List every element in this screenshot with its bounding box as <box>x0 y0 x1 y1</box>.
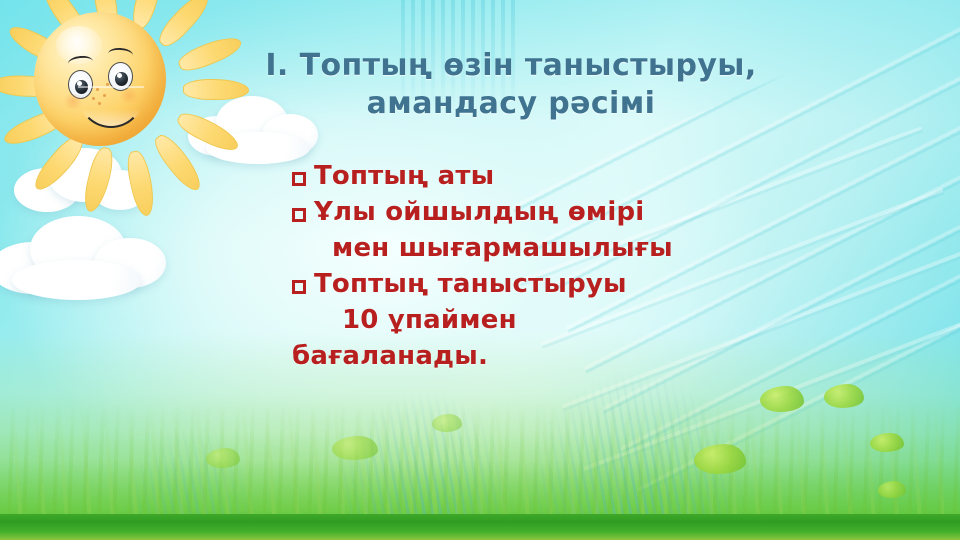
leaf-icon <box>432 414 462 432</box>
leaf-icon <box>870 433 904 452</box>
bullet-list: Топтың аты Ұлы ойшылдың өмірі мен шығарм… <box>292 158 892 374</box>
bullet-square-icon <box>292 266 314 302</box>
list-item: Топтың таныстыруы <box>292 266 892 302</box>
list-item: Ұлы ойшылдың өмірі <box>292 194 892 230</box>
slide-canvas: I. Топтың өзін таныстыруы, амандасу рәсі… <box>0 0 960 540</box>
list-item-label: Топтың аты <box>314 158 892 194</box>
leaf-icon <box>760 386 804 412</box>
leaf-icon <box>824 384 864 408</box>
leaf-icon <box>878 481 906 498</box>
list-item-label: Топтың таныстыруы <box>314 266 892 302</box>
leaf-icon <box>694 444 746 474</box>
sun-face-icon <box>34 12 166 146</box>
title-line-2: амандасу рәсімі <box>212 85 810 123</box>
list-item-continuation: мен шығармашылығы <box>292 230 892 266</box>
smile-icon <box>78 86 144 128</box>
slide-title: I. Топтың өзін таныстыруы, амандасу рәсі… <box>212 47 810 123</box>
title-line-1: I. Топтың өзін таныстыруы, <box>265 48 756 83</box>
list-item-label: Ұлы ойшылдың өмірі <box>314 194 892 230</box>
bullet-square-icon <box>292 158 314 194</box>
list-item-continuation: бағаланады. <box>292 338 892 374</box>
eyebrow-right-icon <box>108 47 134 62</box>
bullet-square-icon <box>292 194 314 230</box>
grass-base-strip <box>0 514 960 540</box>
leaf-icon <box>332 436 378 460</box>
leaf-icon <box>206 448 240 468</box>
list-item: Топтың аты <box>292 158 892 194</box>
list-item-continuation: 10 ұпаймен <box>292 302 892 338</box>
grass-blades-icon <box>0 404 960 524</box>
